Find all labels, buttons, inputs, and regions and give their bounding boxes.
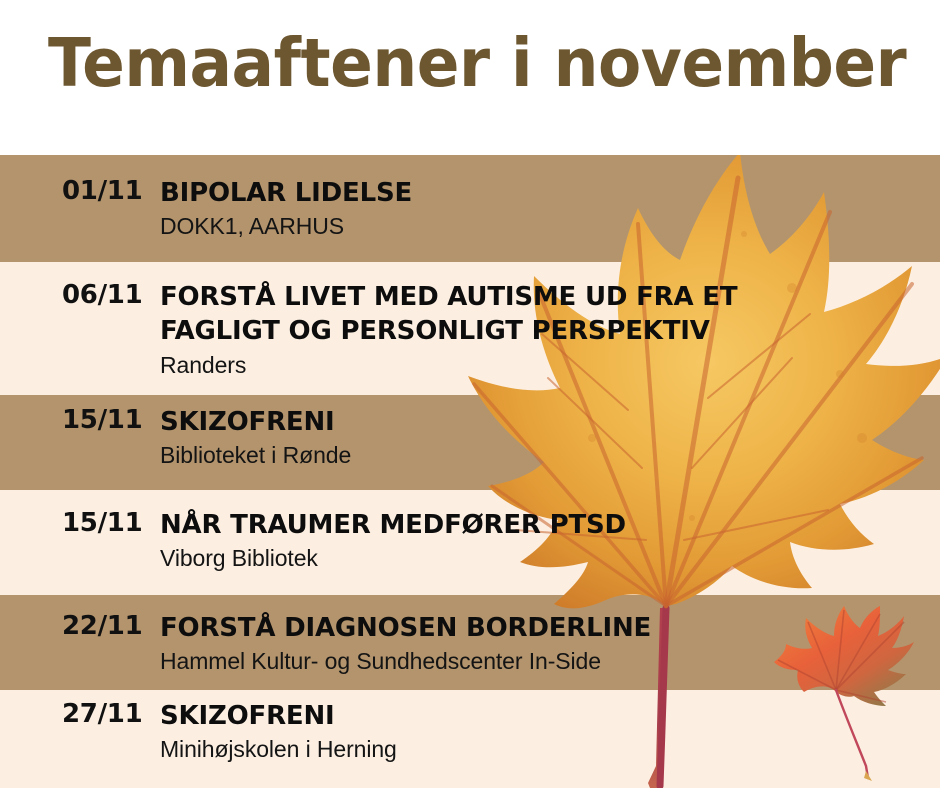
poster-canvas: Temaaftener i november 01/11 BIPOLAR LID… (0, 0, 940, 788)
event-title: SKIZOFRENI (160, 699, 940, 733)
event-title: FORSTÅ LIVET MED AUTISME UD FRA ET FAGLI… (160, 280, 940, 349)
event-date: 01/11 (0, 176, 160, 206)
event-title: NÅR TRAUMER MEDFØRER PTSD (160, 508, 940, 542)
event-details: NÅR TRAUMER MEDFØRER PTSD Viborg Bibliot… (160, 508, 940, 573)
event-details: FORSTÅ DIAGNOSEN BORDERLINE Hammel Kultu… (160, 611, 940, 676)
event-row-2[interactable]: 06/11 FORSTÅ LIVET MED AUTISME UD FRA ET… (0, 280, 940, 379)
event-row-5[interactable]: 22/11 FORSTÅ DIAGNOSEN BORDERLINE Hammel… (0, 611, 940, 676)
event-date: 06/11 (0, 280, 160, 310)
event-row-3[interactable]: 15/11 SKIZOFRENI Biblioteket i Rønde (0, 405, 940, 470)
event-details: FORSTÅ LIVET MED AUTISME UD FRA ET FAGLI… (160, 280, 940, 379)
event-title: BIPOLAR LIDELSE (160, 176, 940, 210)
event-details: BIPOLAR LIDELSE DOKK1, AARHUS (160, 176, 940, 241)
event-row-1[interactable]: 01/11 BIPOLAR LIDELSE DOKK1, AARHUS (0, 176, 940, 241)
poster-header: Temaaftener i november (0, 0, 940, 155)
event-venue: DOKK1, AARHUS (160, 212, 940, 241)
event-date: 15/11 (0, 405, 160, 435)
event-title: FORSTÅ DIAGNOSEN BORDERLINE (160, 611, 940, 645)
event-title: SKIZOFRENI (160, 405, 940, 439)
event-date: 22/11 (0, 611, 160, 641)
event-details: SKIZOFRENI Minihøjskolen i Herning (160, 699, 940, 764)
event-date: 27/11 (0, 699, 160, 729)
event-venue: Hammel Kultur- og Sundhedscenter In-Side (160, 647, 940, 676)
event-row-6[interactable]: 27/11 SKIZOFRENI Minihøjskolen i Herning (0, 699, 940, 764)
event-details: SKIZOFRENI Biblioteket i Rønde (160, 405, 940, 470)
page-title: Temaaftener i november (48, 28, 906, 98)
event-venue: Randers (160, 351, 940, 380)
event-row-4[interactable]: 15/11 NÅR TRAUMER MEDFØRER PTSD Viborg B… (0, 508, 940, 573)
event-date: 15/11 (0, 508, 160, 538)
event-venue: Minihøjskolen i Herning (160, 735, 940, 764)
event-venue: Viborg Bibliotek (160, 544, 940, 573)
event-venue: Biblioteket i Rønde (160, 441, 940, 470)
